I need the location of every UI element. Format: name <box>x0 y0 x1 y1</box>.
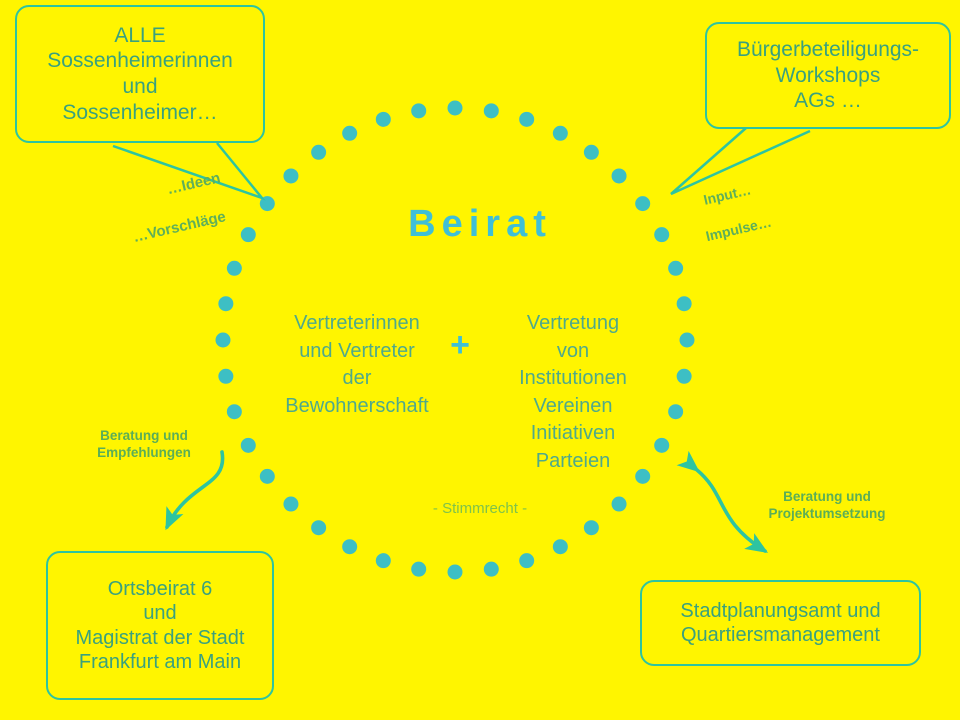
ring-dot <box>342 126 357 141</box>
ring-dot <box>227 404 242 419</box>
annotation-beratung-empfehlungen: Beratung und Empfehlungen <box>74 427 214 462</box>
ring-dot <box>376 112 391 127</box>
ring-dot <box>218 296 233 311</box>
diagram-canvas: ALLE Sossenheimerinnen und Sossenheimer…… <box>0 0 960 720</box>
ring-dot <box>612 168 627 183</box>
box-stadtplanungsamt[interactable]: Stadtplanungsamt und Quartiersmanagement <box>640 580 921 666</box>
ring-dot <box>411 103 426 118</box>
center-column-right: Vertretung von Institutionen Vereinen In… <box>478 310 668 476</box>
ring-dot <box>216 333 231 348</box>
plus-icon: + <box>437 328 483 362</box>
ring-dot <box>584 520 599 535</box>
ring-dot <box>677 296 692 311</box>
ring-dot <box>448 565 463 580</box>
callout-workshops-text: Bürgerbeteiligungs- Workshops AGs … <box>707 37 949 114</box>
ring-dot <box>376 553 391 568</box>
box-ortsbeirat-text: Ortsbeirat 6 und Magistrat der Stadt Fra… <box>48 577 272 675</box>
ring-dot <box>677 369 692 384</box>
ring-dot <box>519 553 534 568</box>
annotation-ideen-line1: …Ideen <box>165 157 273 200</box>
ring-dot <box>553 126 568 141</box>
ring-dot <box>668 261 683 276</box>
callout-citizens[interactable]: ALLE Sossenheimerinnen und Sossenheimer… <box>15 5 265 143</box>
box-stadtplanungsamt-text: Stadtplanungsamt und Quartiersmanagement <box>642 599 919 648</box>
callout-workshops[interactable]: Bürgerbeteiligungs- Workshops AGs … <box>705 22 951 129</box>
annotation-beratung-projektumsetzung: Beratung und Projektumsetzung <box>743 488 911 523</box>
ring-dot <box>218 369 233 384</box>
box-ortsbeirat[interactable]: Ortsbeirat 6 und Magistrat der Stadt Fra… <box>46 551 274 700</box>
ring-dot <box>283 168 298 183</box>
callout-citizens-text: ALLE Sossenheimerinnen und Sossenheimer… <box>17 23 263 125</box>
ring-dot <box>227 261 242 276</box>
ring-dot <box>484 103 499 118</box>
ring-dot <box>448 101 463 116</box>
ring-dot <box>584 145 599 160</box>
ring-dot <box>519 112 534 127</box>
ring-dot <box>680 333 695 348</box>
ring-dot <box>311 145 326 160</box>
ring-dot <box>668 404 683 419</box>
ring-dot <box>311 520 326 535</box>
ring-dot <box>241 438 256 453</box>
ring-dot <box>553 539 568 554</box>
annotation-ideen-vorschlaege: …Ideen …Vorschläge <box>118 138 286 265</box>
center-column-left: Vertreterinnen und Vertreter der Bewohne… <box>262 310 452 420</box>
ring-dot <box>484 562 499 577</box>
ring-dot <box>411 562 426 577</box>
ring-dot <box>342 539 357 554</box>
ring-dot <box>260 469 275 484</box>
